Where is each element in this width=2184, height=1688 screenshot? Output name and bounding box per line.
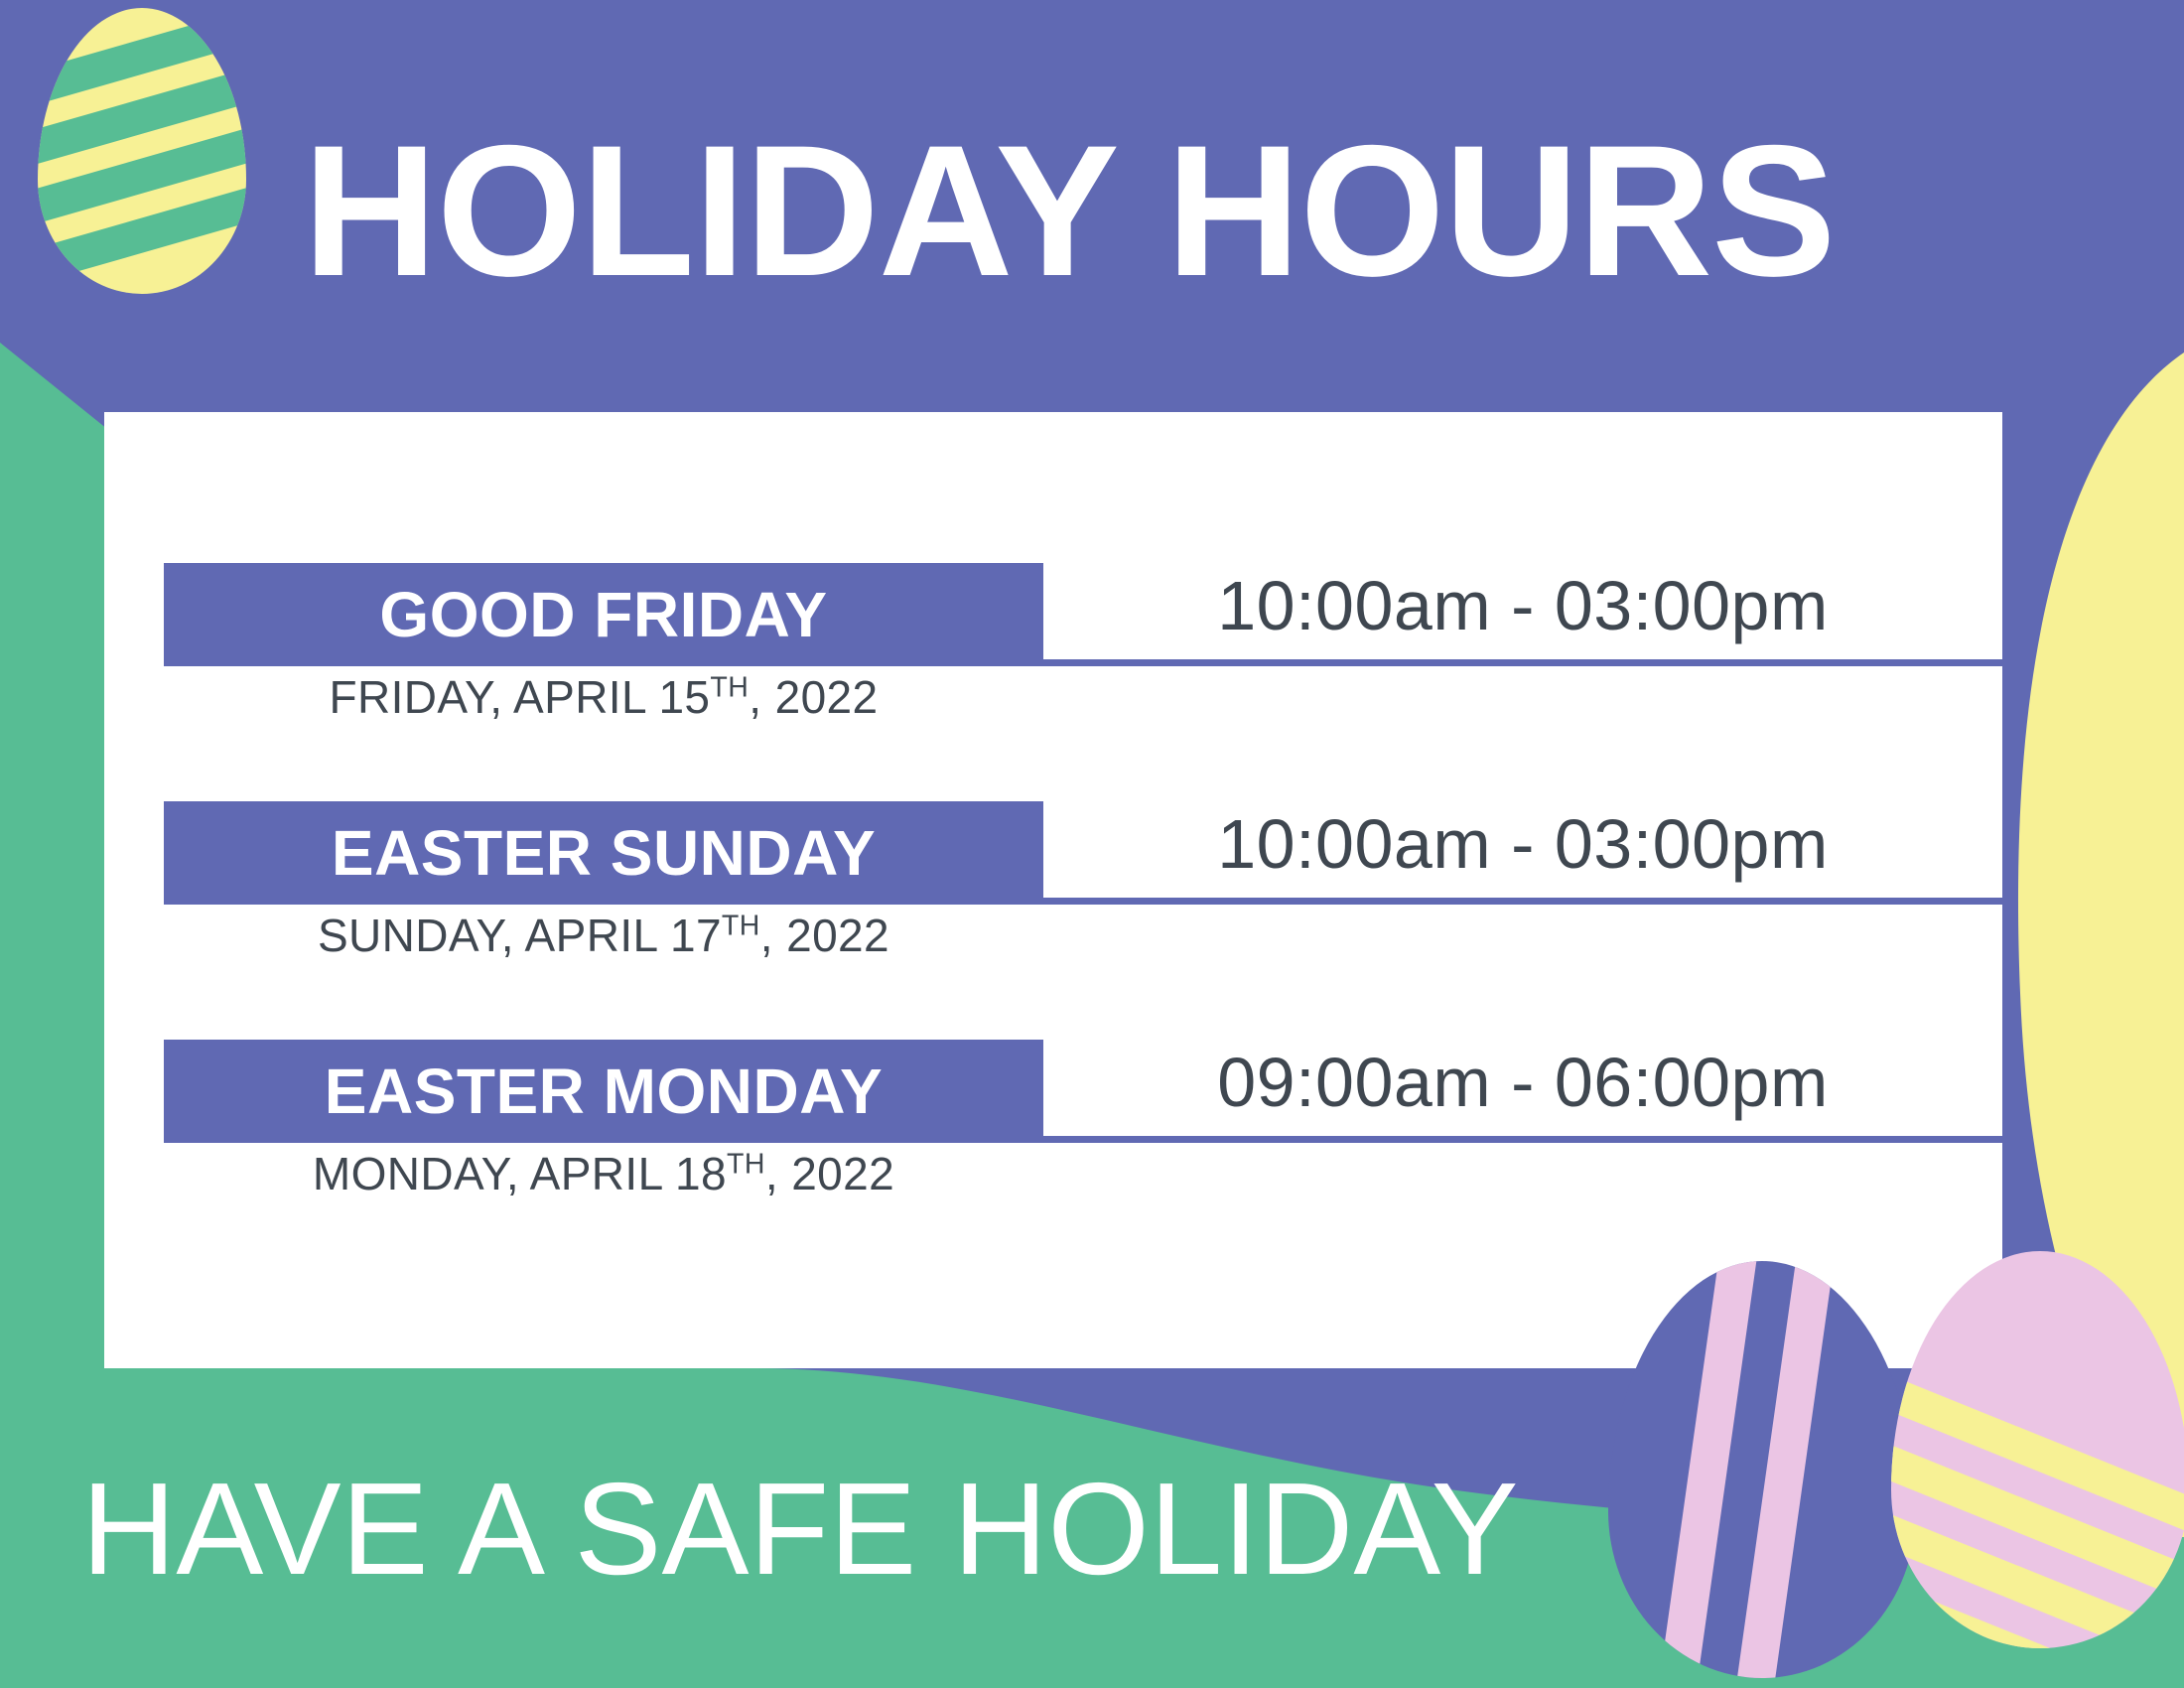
holiday-date: MONDAY, APRIL 18TH, 2022 [164,1147,1043,1200]
holiday-date-suffix: , 2022 [760,910,889,961]
holiday-date-ordinal: TH [727,1149,765,1181]
holiday-name: GOOD FRIDAY [379,578,827,651]
egg-bottom-purple-icon [1608,1261,1916,1678]
footer-message: HAVE A SAFE HOLIDAY [81,1454,1519,1604]
egg-body [1891,1251,2184,1648]
holiday-date-prefix: FRIDAY, APRIL 15 [329,671,710,723]
holiday-hours-poster: HOLIDAY HOURS GOOD FRIDAY 10:00am - 03:0… [0,0,2184,1688]
holiday-hours-cell: 09:00am - 06:00pm [1043,1040,2002,1143]
holiday-hours: 10:00am - 03:00pm [1217,566,1829,645]
holiday-date-suffix: , 2022 [749,671,878,723]
egg-body [38,8,246,294]
holiday-date-ordinal: TH [722,911,760,942]
page-title: HOLIDAY HOURS [303,117,1990,304]
holiday-hours-cell: 10:00am - 03:00pm [1043,801,2002,905]
holiday-date: FRIDAY, APRIL 15TH, 2022 [164,670,1043,724]
holiday-name-band: GOOD FRIDAY [164,563,1043,666]
holiday-date-prefix: SUNDAY, APRIL 17 [318,910,722,961]
schedule-row-main: GOOD FRIDAY 10:00am - 03:00pm [164,563,2002,666]
holiday-date-suffix: , 2022 [765,1148,894,1199]
holiday-date-prefix: MONDAY, APRIL 18 [313,1148,727,1199]
holiday-name: EASTER MONDAY [325,1055,883,1128]
egg-top-left-icon [38,8,246,294]
holiday-name-band: EASTER MONDAY [164,1040,1043,1143]
holiday-name: EASTER SUNDAY [332,816,876,890]
schedule-card: GOOD FRIDAY 10:00am - 03:00pm FRIDAY, AP… [104,412,2002,1368]
egg-body [1608,1261,1916,1678]
schedule-row: EASTER MONDAY 09:00am - 06:00pm MONDAY, … [164,1040,2002,1278]
holiday-hours-cell: 10:00am - 03:00pm [1043,563,2002,666]
schedule-row: GOOD FRIDAY 10:00am - 03:00pm FRIDAY, AP… [164,563,2002,801]
schedule-row-main: EASTER MONDAY 09:00am - 06:00pm [164,1040,2002,1143]
egg-bottom-pink-icon [1891,1251,2184,1648]
holiday-date-ordinal: TH [710,672,749,704]
holiday-hours: 09:00am - 06:00pm [1217,1043,1829,1122]
schedule-rows: GOOD FRIDAY 10:00am - 03:00pm FRIDAY, AP… [164,563,2002,1278]
holiday-date: SUNDAY, APRIL 17TH, 2022 [164,909,1043,962]
holiday-hours: 10:00am - 03:00pm [1217,804,1829,884]
holiday-name-band: EASTER SUNDAY [164,801,1043,905]
schedule-row: EASTER SUNDAY 10:00am - 03:00pm SUNDAY, … [164,801,2002,1040]
schedule-row-main: EASTER SUNDAY 10:00am - 03:00pm [164,801,2002,905]
